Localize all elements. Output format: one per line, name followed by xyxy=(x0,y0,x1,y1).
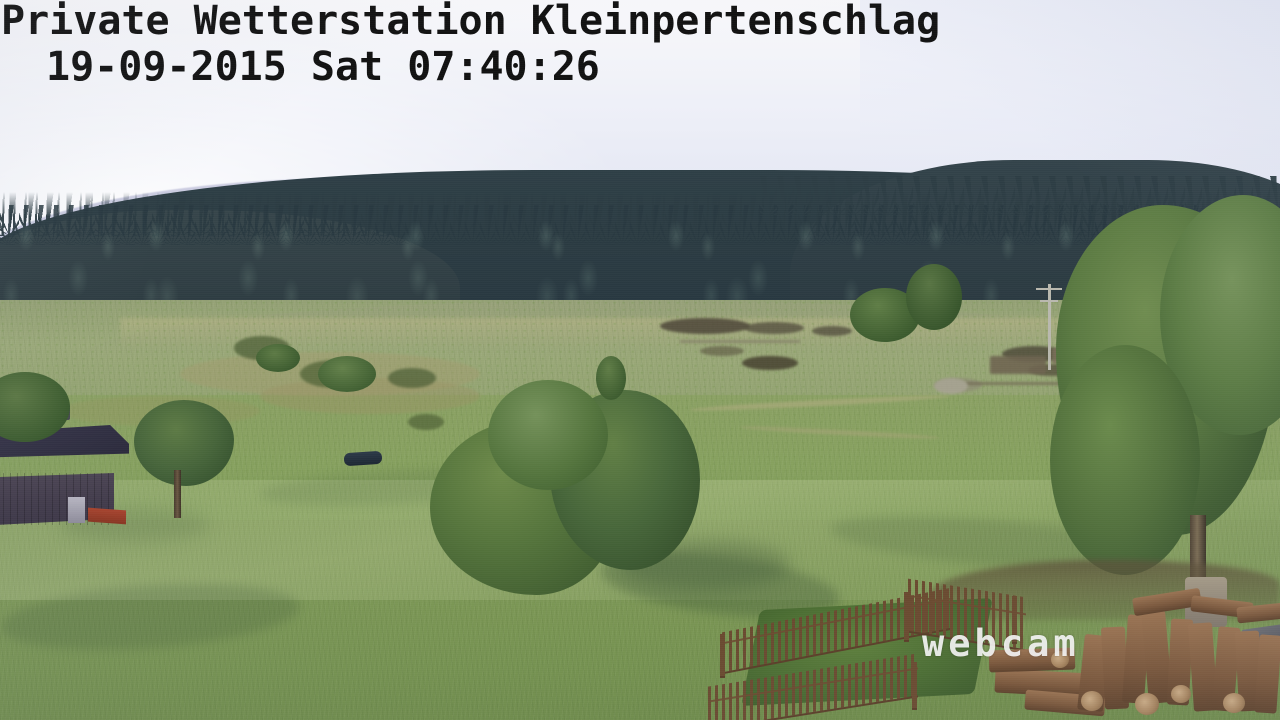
barn-tree xyxy=(128,400,238,520)
tree-canopy xyxy=(134,400,234,486)
brush-patch xyxy=(742,356,798,370)
webcam-watermark: webcam xyxy=(922,624,1080,664)
far-fence xyxy=(680,340,800,343)
webcam-image: Private Wetterstation Kleinpertenschlag … xyxy=(0,0,1280,720)
brush-patch xyxy=(660,318,750,334)
mid-shrub xyxy=(596,356,626,400)
log-cut-end xyxy=(1135,693,1159,715)
far-shed xyxy=(990,356,1046,374)
brush-patch xyxy=(744,322,804,334)
right-large-tree xyxy=(1050,195,1280,595)
fence-post xyxy=(720,634,725,678)
scrub-patch xyxy=(388,368,436,388)
barn-door xyxy=(68,497,85,523)
mid-shrub xyxy=(318,356,376,392)
log-cut-end xyxy=(1081,691,1103,711)
mid-shrub xyxy=(256,344,300,372)
brush-patch xyxy=(700,346,744,356)
tree-canopy xyxy=(1050,345,1200,575)
log-cut-end xyxy=(1171,685,1191,703)
brush-patch xyxy=(812,326,852,336)
far-boulder xyxy=(934,378,968,394)
water-trough xyxy=(344,451,383,467)
fence-post xyxy=(912,662,917,710)
fence-post xyxy=(904,592,909,642)
bush-canopy xyxy=(488,380,608,490)
barn-red-object xyxy=(88,508,126,525)
log-cut-end xyxy=(1223,693,1245,713)
log xyxy=(1254,634,1280,713)
tree-trunk xyxy=(174,470,181,518)
mid-shrub xyxy=(906,264,962,330)
center-bush-cluster xyxy=(430,380,700,595)
